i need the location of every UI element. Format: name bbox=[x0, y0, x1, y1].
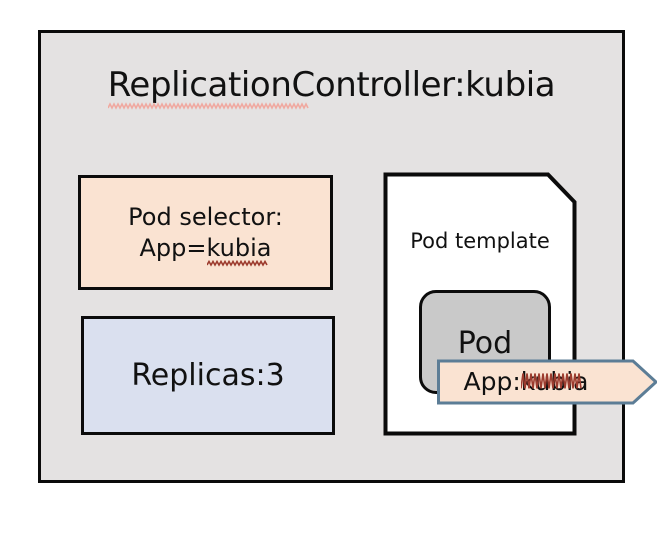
pod-selector-value-keyword: kubia bbox=[207, 233, 272, 264]
replicas-label: Replicas:3 bbox=[131, 358, 284, 394]
pod-selector-value: App=kubia bbox=[140, 233, 272, 264]
page-title: ReplicationController:kubia bbox=[41, 65, 622, 105]
pod-selector-card: Pod selector: App=kubia bbox=[78, 175, 333, 290]
pod-label-callout: App:kubia bbox=[437, 359, 657, 405]
replication-controller-frame: ReplicationController:kubia Pod selector… bbox=[38, 30, 625, 483]
pod-selector-label: Pod selector: bbox=[128, 202, 283, 233]
replicas-card: Replicas:3 bbox=[81, 316, 335, 435]
pod-selector-value-prefix: App= bbox=[140, 234, 207, 262]
pod-label: Pod bbox=[422, 326, 548, 362]
callout-keyword: kubia bbox=[521, 367, 589, 397]
callout-prefix: App: bbox=[464, 367, 521, 396]
pod-label-callout-text: App:kubia bbox=[437, 367, 615, 397]
pod-template-label: Pod template bbox=[383, 228, 577, 254]
page-title-text: ReplicationController:kubia bbox=[108, 65, 556, 105]
